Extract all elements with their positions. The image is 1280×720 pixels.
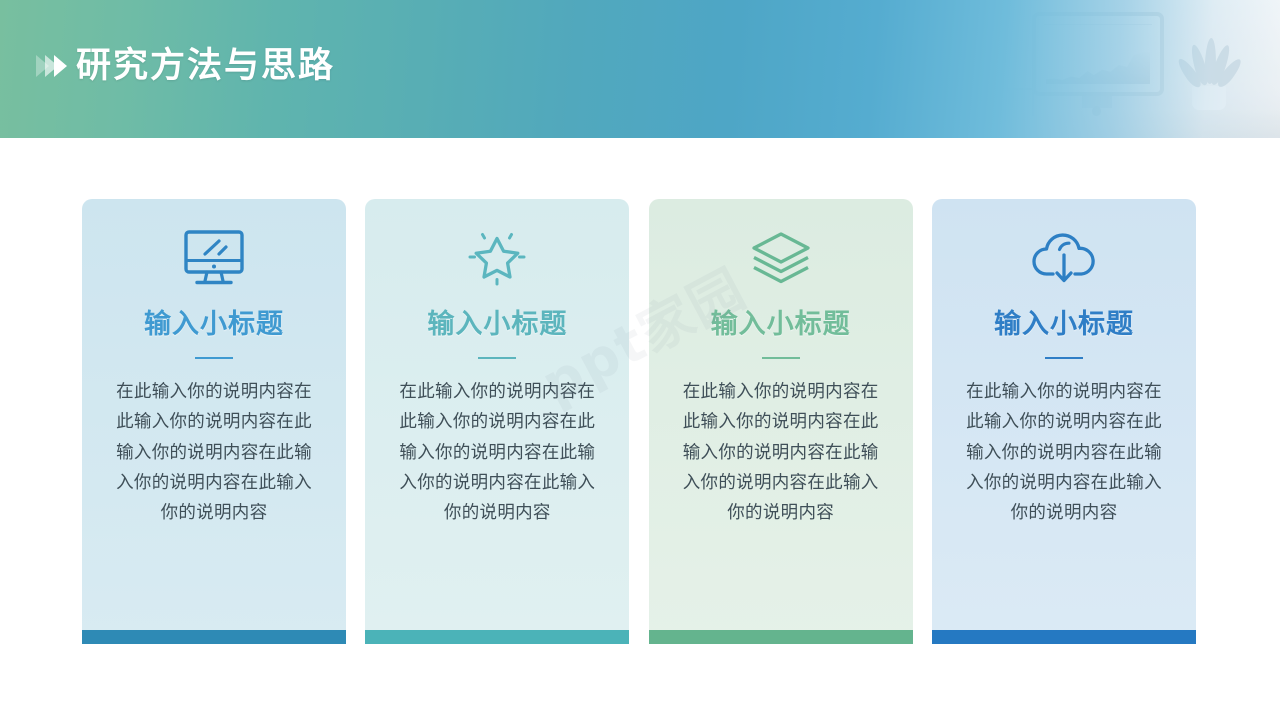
info-card-2[interactable]: 输入小标题 在此输入你的说明内容在此输入你的说明内容在此输入你的说明内容在此输入… [365,199,629,644]
shining-star-icon [455,222,539,294]
info-card-3[interactable]: 输入小标题 在此输入你的说明内容在此输入你的说明内容在此输入你的说明内容在此输入… [649,199,913,644]
card-title: 输入小标题 [711,311,851,338]
card-body-text: 在此输入你的说明内容在此输入你的说明内容在此输入你的说明内容在此输入你的说明内容… [114,377,314,528]
card-divider [1045,357,1083,359]
card-body-text: 在此输入你的说明内容在此输入你的说明内容在此输入你的说明内容在此输入你的说明内容… [397,377,597,528]
header-title-group: 研究方法与思路 [36,48,335,83]
page-title: 研究方法与思路 [76,48,335,83]
layers-stack-icon [739,222,823,294]
cloud-download-icon [1022,222,1106,294]
card-accent-bar [82,630,346,644]
card-body-text: 在此输入你的说明内容在此输入你的说明内容在此输入你的说明内容在此输入你的说明内容… [681,377,881,528]
card-title: 输入小标题 [994,311,1134,338]
card-accent-bar [365,630,629,644]
card-divider [478,357,516,359]
card-row: 输入小标题 在此输入你的说明内容在此输入你的说明内容在此输入你的说明内容在此输入… [82,199,1196,644]
card-accent-bar [932,630,1196,644]
card-divider [762,357,800,359]
triple-chevron-right-icon [36,55,63,77]
slide: 研究方法与思路 ppt家园 输入小标题 在此输入你的说明内容在此输入你的说明内容 [0,0,1280,720]
card-accent-bar [649,630,913,644]
card-divider [195,357,233,359]
desktop-monitor-icon [172,222,256,294]
info-card-1[interactable]: 输入小标题 在此输入你的说明内容在此输入你的说明内容在此输入你的说明内容在此输入… [82,199,346,644]
card-title: 输入小标题 [427,311,567,338]
slide-header: 研究方法与思路 [0,0,1280,138]
card-title: 输入小标题 [144,311,284,338]
card-body-text: 在此输入你的说明内容在此输入你的说明内容在此输入你的说明内容在此输入你的说明内容… [964,377,1164,528]
info-card-4[interactable]: 输入小标题 在此输入你的说明内容在此输入你的说明内容在此输入你的说明内容在此输入… [932,199,1196,644]
